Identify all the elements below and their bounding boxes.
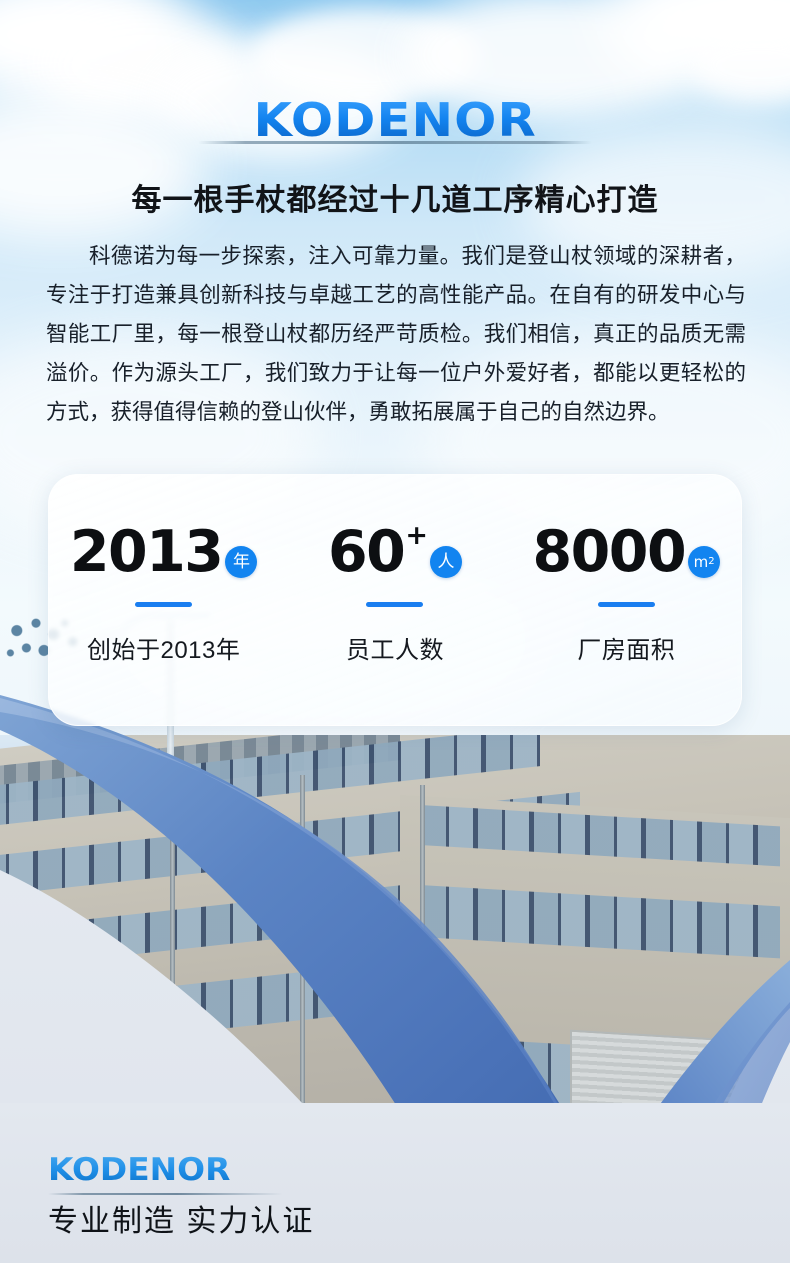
stat-unit-badge: m2	[688, 546, 720, 578]
stat-number: 60	[328, 525, 404, 580]
stat-unit-badge: 人	[430, 546, 462, 578]
stat-item-employees: 60 + 人 员工人数	[279, 474, 510, 726]
logo-underline-rule	[198, 141, 592, 144]
stat-divider	[135, 602, 192, 607]
intro-paragraph: 科德诺为每一步探索，注入可靠力量。我们是登山杖领域的深耕者，专注于打造兼具创新科…	[46, 237, 746, 432]
footer-tagline: 专业制造 实力认证	[48, 1196, 508, 1240]
stat-label: 创始于2013年	[87, 630, 240, 665]
header-logo: KODENOR	[0, 93, 790, 147]
footer: KODENOR 专业制造 实力认证	[48, 1152, 508, 1240]
stat-unit-superscript: 2	[708, 557, 714, 567]
stat-unit-text: m	[694, 555, 709, 570]
promo-page: KODENOR 每一根手杖都经过十几道工序精心打造 科德诺为每一步探索，注入可靠…	[0, 0, 790, 1263]
stat-item-area: 8000 m2 厂房面积	[511, 474, 742, 726]
stat-number: 8000	[532, 525, 685, 580]
footer-logo-underline-rule	[48, 1193, 283, 1195]
stat-divider	[598, 602, 655, 607]
stats-row: 2013 年 创始于2013年 60 + 人 员工人数 8000 m2 厂房	[48, 474, 742, 726]
stat-divider	[366, 602, 423, 607]
stat-value-group: 8000 m2	[532, 518, 720, 580]
stat-unit-badge: 年	[225, 546, 257, 578]
stat-value-group: 2013 年	[70, 518, 258, 580]
stat-suffix: +	[405, 522, 428, 549]
stat-value-group: 60 + 人	[328, 518, 462, 580]
footer-brand-wordmark: KODENOR	[48, 1152, 230, 1188]
stat-number: 2013	[70, 525, 223, 580]
stat-label: 员工人数	[346, 630, 444, 665]
stat-label: 厂房面积	[577, 630, 675, 665]
page-title: 每一根手杖都经过十几道工序精心打造	[0, 175, 790, 219]
stat-item-founded: 2013 年 创始于2013年	[48, 474, 279, 726]
brand-wordmark: KODENOR	[253, 93, 536, 147]
